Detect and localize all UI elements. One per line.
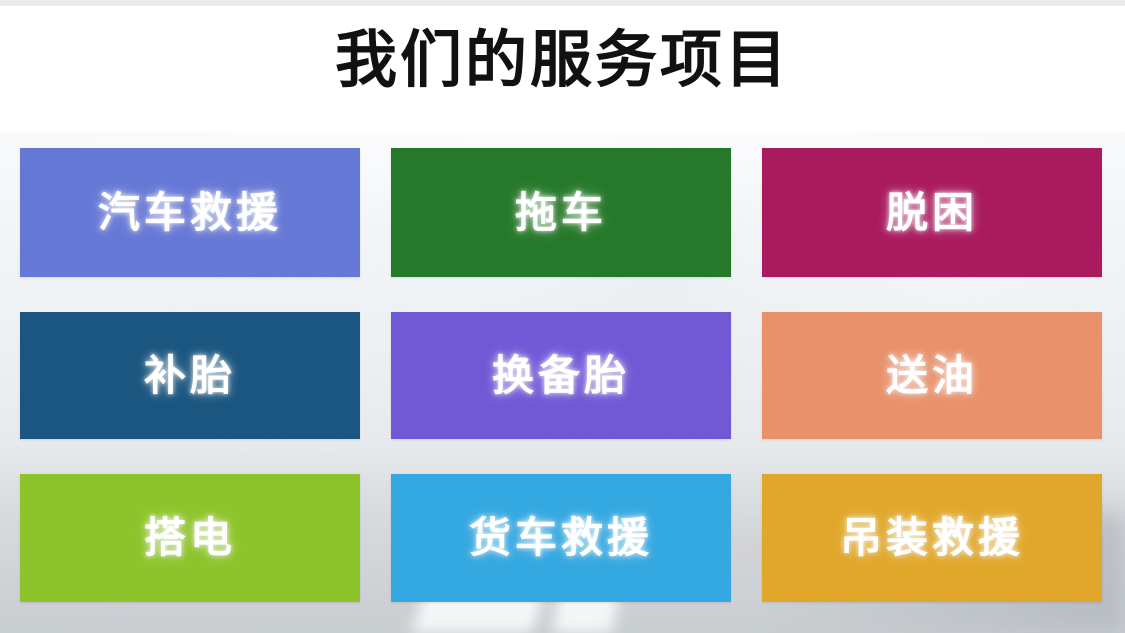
service-poster: 我们的服务项目 汽车救援 拖车 脱困 补胎 换备胎 送油 搭电 货车救援 吊装救… xyxy=(0,0,1125,633)
page-title: 我们的服务项目 xyxy=(0,22,1125,100)
service-tile-label: 吊装救援 xyxy=(840,517,1024,559)
service-tile-crane-lifting-rescue[interactable]: 吊装救援 xyxy=(762,474,1102,602)
service-tile-spare-tire-change[interactable]: 换备胎 xyxy=(391,312,731,439)
service-tile-label: 汽车救援 xyxy=(98,192,282,234)
service-tile-label: 送油 xyxy=(886,355,978,397)
service-tile-label: 换备胎 xyxy=(492,355,630,397)
service-tile-tire-repair[interactable]: 补胎 xyxy=(20,312,360,439)
service-tile-label: 货车救援 xyxy=(469,517,653,559)
service-tile-label: 补胎 xyxy=(144,355,236,397)
service-tile-label: 拖车 xyxy=(515,192,607,234)
service-tile-jump-start[interactable]: 搭电 xyxy=(20,474,360,602)
service-tile-extrication[interactable]: 脱困 xyxy=(762,148,1102,277)
service-tile-label: 搭电 xyxy=(144,517,236,559)
service-tile-truck-rescue[interactable]: 货车救援 xyxy=(391,474,731,602)
service-tile-fuel-delivery[interactable]: 送油 xyxy=(762,312,1102,439)
service-tile-towing[interactable]: 拖车 xyxy=(391,148,731,277)
service-tile-label: 脱困 xyxy=(886,192,978,234)
service-tile-car-rescue[interactable]: 汽车救援 xyxy=(20,148,360,277)
top-edge-strip xyxy=(0,0,1125,6)
services-grid: 汽车救援 拖车 脱困 补胎 换备胎 送油 搭电 货车救援 吊装救援 xyxy=(20,148,1102,602)
